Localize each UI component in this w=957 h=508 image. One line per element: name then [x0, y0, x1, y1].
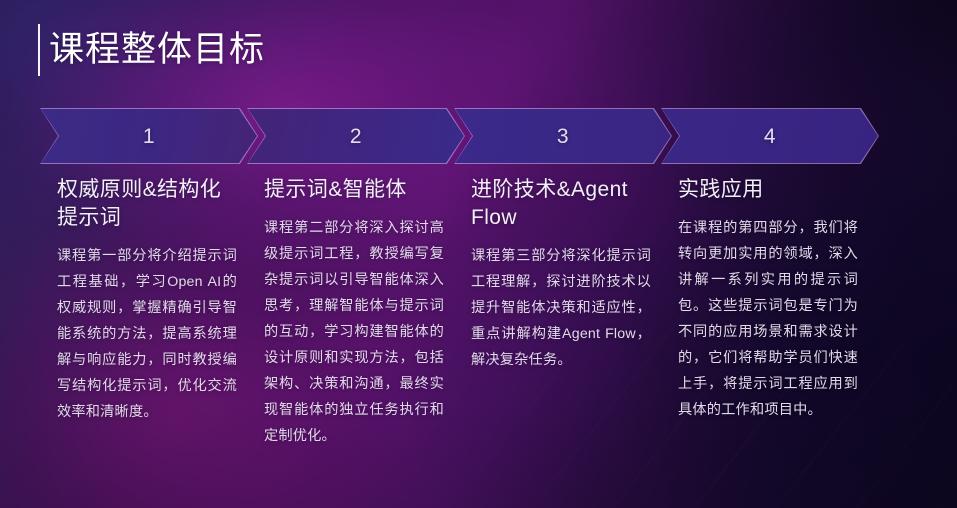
- step-heading-2: 提示词&智能体: [264, 176, 444, 204]
- step-chevron-1[interactable]: 1: [40, 108, 258, 164]
- step-number-1: 1: [143, 126, 155, 147]
- step-column-4: 实践应用 在课程的第四部分，我们将转向更加实用的领域，深入讲解一系列实用的提示词…: [678, 176, 858, 423]
- step-chevron-band: 1 2 3 4: [0, 108, 957, 164]
- step-chevron-2[interactable]: 2: [247, 108, 465, 164]
- step-chevron-3[interactable]: 3: [454, 108, 672, 164]
- step-number-4: 4: [764, 126, 776, 147]
- step-number-3: 3: [557, 126, 569, 147]
- step-body-1: 课程第一部分将介绍提示词工程基础，学习Open AI的权威规则，掌握精确引导智能…: [57, 243, 237, 425]
- slide-canvas: 课程整体目标 1 2 3 4 权威原则&结构化提示词 课程第一部分将介绍提: [0, 0, 957, 508]
- step-number-2: 2: [350, 126, 362, 147]
- step-column-2: 提示词&智能体 课程第二部分将深入探讨高级提示词工程，教授编写复杂提示词以引导智…: [264, 176, 444, 449]
- step-heading-4: 实践应用: [678, 176, 858, 204]
- title-accent-bar: [38, 24, 40, 76]
- step-column-1: 权威原则&结构化提示词 课程第一部分将介绍提示词工程基础，学习Open AI的权…: [57, 176, 237, 425]
- step-chevron-4[interactable]: 4: [661, 108, 879, 164]
- page-title: 课程整体目标: [38, 24, 265, 76]
- step-heading-1: 权威原则&结构化提示词: [57, 176, 237, 232]
- page-title-text: 课程整体目标: [49, 24, 265, 76]
- step-body-3: 课程第三部分将深化提示词工程理解，探讨进阶技术以提升智能体决策和适应性，重点讲解…: [471, 243, 651, 373]
- step-column-3: 进阶技术&Agent Flow 课程第三部分将深化提示词工程理解，探讨进阶技术以…: [471, 176, 651, 373]
- step-body-4: 在课程的第四部分，我们将转向更加实用的领域，深入讲解一系列实用的提示词包。这些提…: [678, 215, 858, 423]
- step-heading-3: 进阶技术&Agent Flow: [471, 176, 651, 232]
- step-body-2: 课程第二部分将深入探讨高级提示词工程，教授编写复杂提示词以引导智能体深入思考，理…: [264, 215, 444, 449]
